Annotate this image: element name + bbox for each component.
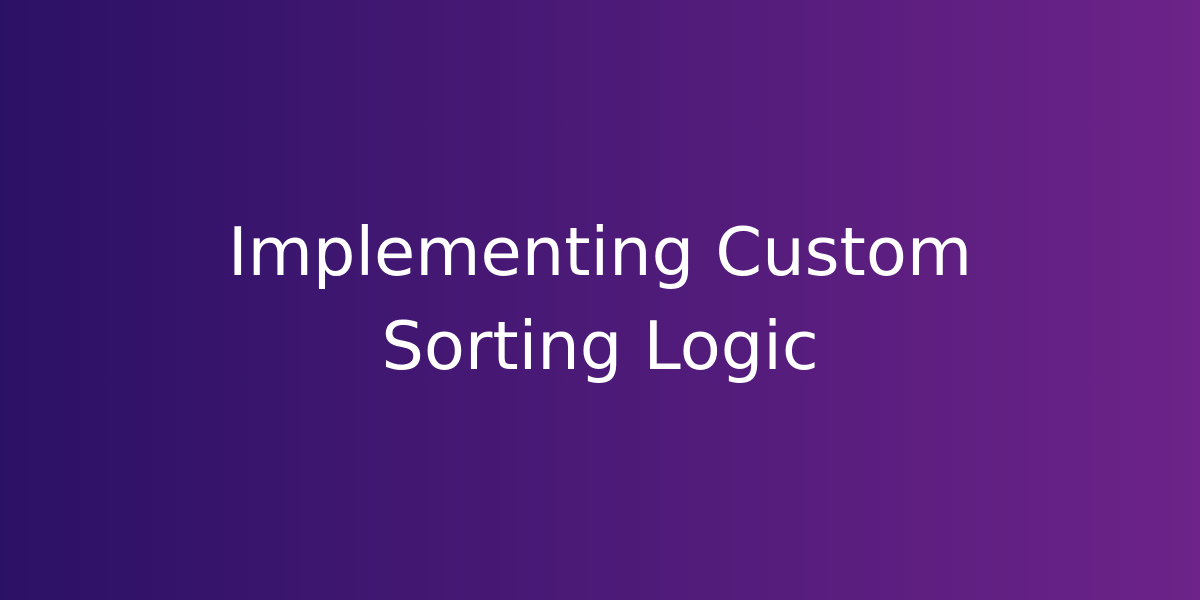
title-banner: Implementing Custom Sorting Logic [0,0,1200,600]
banner-content: Implementing Custom Sorting Logic [0,206,1200,394]
page-title: Implementing Custom Sorting Logic [100,206,1100,394]
